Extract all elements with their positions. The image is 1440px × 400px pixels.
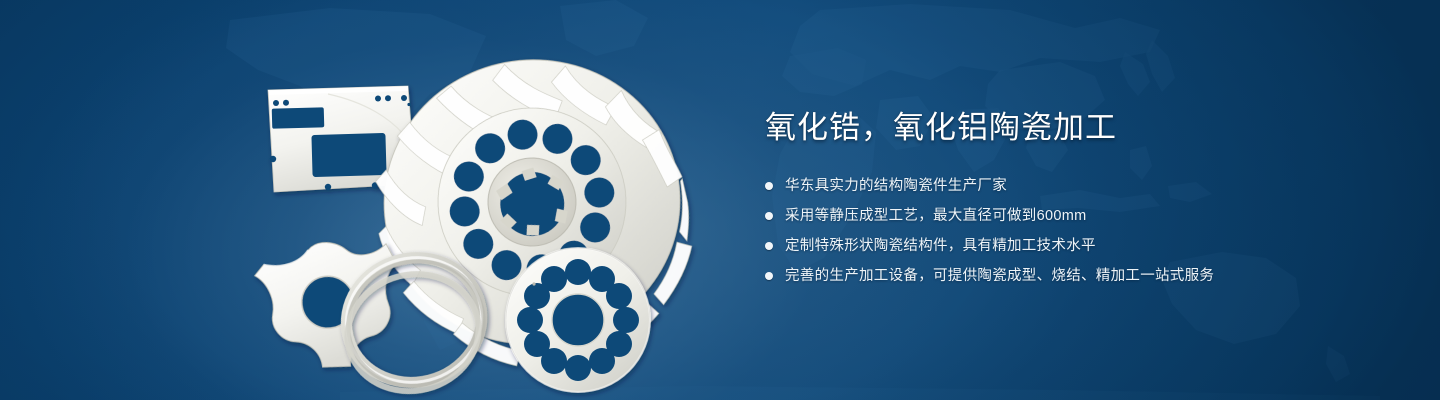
ceramic-cross-plate bbox=[252, 235, 406, 375]
bullet-dot-icon bbox=[765, 242, 773, 250]
list-item: 华东具实力的结构陶瓷件生产厂家 bbox=[765, 175, 1365, 197]
banner-copy: 氧化锆，氧化铝陶瓷加工 华东具实力的结构陶瓷件生产厂家 采用等静压成型工艺，最大… bbox=[765, 108, 1365, 295]
list-item: 采用等静压成型工艺，最大直径可做到600mm bbox=[765, 205, 1365, 227]
list-item: 定制特殊形状陶瓷结构件，具有精加工技术水平 bbox=[765, 235, 1365, 257]
ceramic-products-image bbox=[232, 42, 672, 374]
banner-headline: 氧化锆，氧化铝陶瓷加工 bbox=[765, 108, 1365, 148]
bullet-dot-icon bbox=[765, 182, 773, 190]
bullet-dot-icon bbox=[765, 272, 773, 280]
bullet-dot-icon bbox=[765, 212, 773, 220]
hero-banner: 氧化锆，氧化铝陶瓷加工 华东具实力的结构陶瓷件生产厂家 采用等静压成型工艺，最大… bbox=[0, 0, 1440, 400]
feature-text: 采用等静压成型工艺，最大直径可做到600mm bbox=[785, 205, 1086, 227]
feature-list: 华东具实力的结构陶瓷件生产厂家 采用等静压成型工艺，最大直径可做到600mm 定… bbox=[765, 175, 1365, 287]
list-item: 完善的生产加工设备，可提供陶瓷成型、烧结、精加工一站式服务 bbox=[765, 265, 1365, 287]
feature-text: 华东具实力的结构陶瓷件生产厂家 bbox=[785, 175, 1007, 197]
ceramic-perforated-disc bbox=[506, 248, 650, 392]
feature-text: 完善的生产加工设备，可提供陶瓷成型、烧结、精加工一站式服务 bbox=[785, 265, 1214, 287]
feature-text: 定制特殊形状陶瓷结构件，具有精加工技术水平 bbox=[785, 235, 1096, 257]
